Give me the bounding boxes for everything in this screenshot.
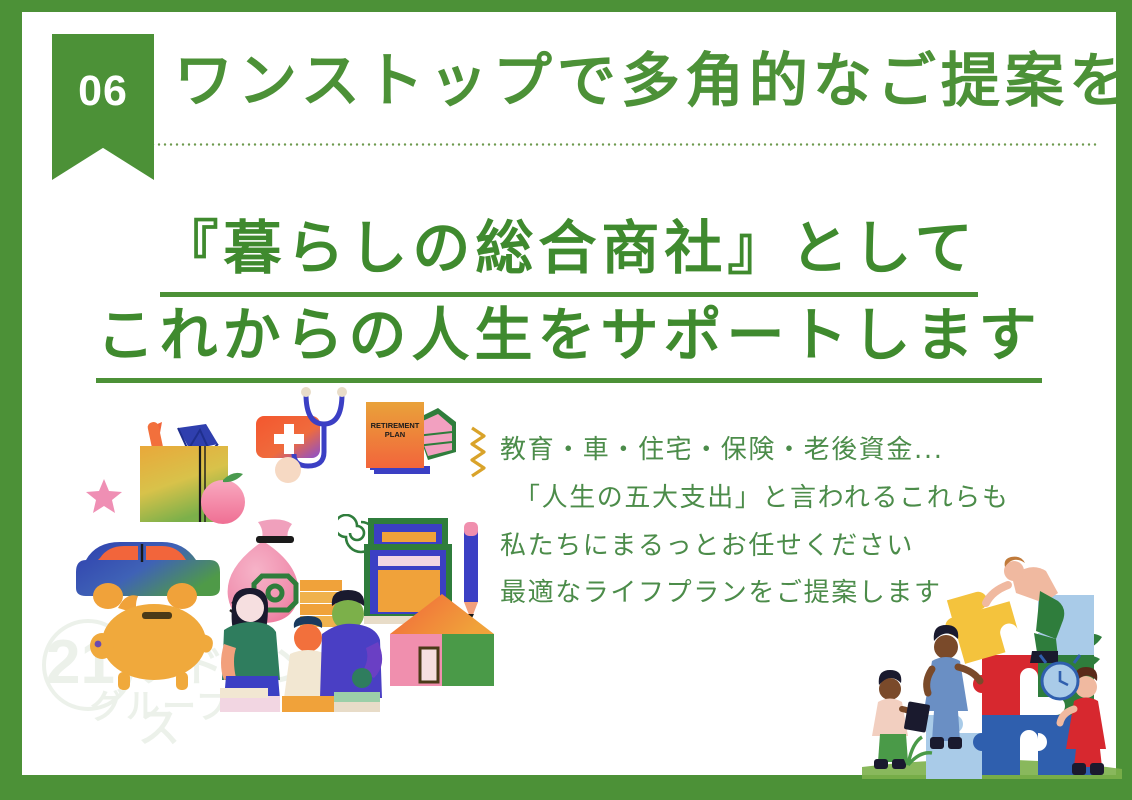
headline-line-2: これからの人生をサポートします — [22, 297, 1116, 384]
headline-line-1-text: 『暮らしの総合商社』として — [160, 210, 977, 297]
svg-text:RETIREMENT: RETIREMENT — [371, 421, 420, 430]
svg-text:PLAN: PLAN — [385, 430, 405, 439]
slide-frame: ワンストップで多角的なご提案を 『暮らしの総合商社』として これからの人生をサポ… — [0, 0, 1132, 800]
star-icon — [84, 476, 124, 516]
headline-block: 『暮らしの総合商社』として これからの人生をサポートします — [22, 210, 1116, 383]
body-copy-block: 教育・車・住宅・保険・老後資金... 「人生の五大支出」と言われるこれらも 私た… — [500, 427, 1010, 618]
alarm-clock-icon — [1040, 655, 1080, 699]
header-dotted-divider — [54, 143, 1098, 146]
headline-line-1: 『暮らしの総合商社』として — [22, 210, 1116, 297]
headline-line-2-text: これからの人生をサポートします — [96, 297, 1041, 384]
retirement-plan-document-icon: RETIREMENT PLAN — [358, 394, 468, 494]
family-icon — [206, 584, 396, 714]
body-copy-line-3: 私たちにまるっとお任せください — [500, 523, 1010, 571]
medical-kit-icon — [254, 386, 364, 506]
house-icon — [384, 590, 504, 694]
life-expenses-illustration-cluster: RETIREMENT PLAN — [68, 384, 488, 794]
body-copy-line-1: 教育・車・住宅・保険・老後資金... — [500, 427, 1010, 475]
section-number-ribbon: 06 — [52, 34, 154, 180]
slide-canvas: ワンストップで多角的なご提案を 『暮らしの総合商社』として これからの人生をサポ… — [22, 12, 1116, 775]
body-copy-line-2: 「人生の五大支出」と言われるこれらも — [500, 475, 1010, 523]
section-number: 06 — [52, 67, 154, 116]
body-copy-line-4: 最適なライフプランをご提案します — [500, 570, 1010, 618]
squiggle-icon — [466, 426, 492, 482]
piggy-bank-icon — [90, 590, 220, 700]
grocery-bag-icon — [128, 410, 258, 530]
page-title: ワンストップで多角的なご提案を — [174, 51, 1132, 110]
